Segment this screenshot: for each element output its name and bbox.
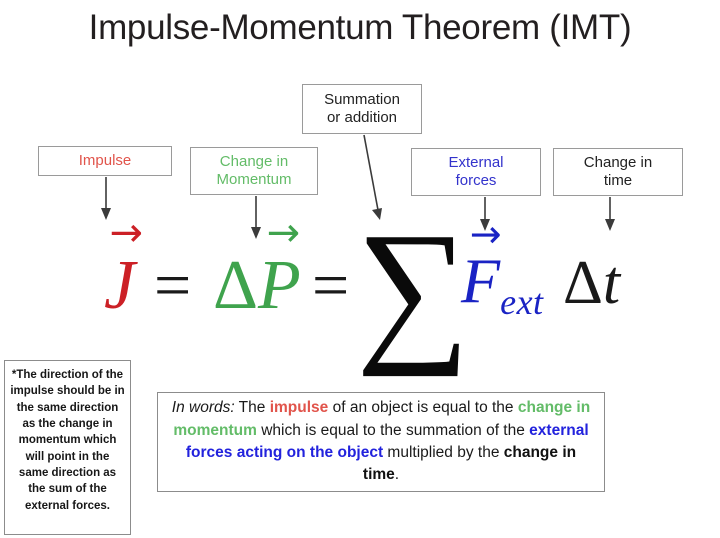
in-words-part2: of an object is equal to the — [328, 399, 518, 416]
equation-delta-symbol-time: Δ — [563, 249, 603, 317]
vector-arrow-icon: → — [470, 212, 502, 256]
equation-P-symbol: P — [258, 247, 301, 324]
in-words-box: In words: The impulse of an object is eq… — [157, 392, 605, 492]
equation-term-change-in-momentum-vector: Δ→P — [213, 246, 301, 326]
vector-arrow-icon: → — [267, 210, 301, 256]
equation: → J = Δ→P = ∑ →Fext Δt — [0, 222, 720, 347]
in-words-part4: multiplied by the — [383, 444, 504, 461]
equation-term-impulse-vector: → J — [104, 246, 135, 326]
equation-term-external-force-vector: →Fext — [461, 244, 544, 323]
in-words-part5: . — [395, 466, 399, 483]
in-words-part1: The — [235, 399, 270, 416]
equation-equals-1: = — [154, 248, 191, 324]
vector-arrow-icon: → — [109, 210, 143, 256]
equation-J-symbol: J — [104, 247, 135, 324]
equation-term-change-in-time: Δt — [563, 248, 620, 319]
footnote-box: *The direction of the impulse should be … — [4, 360, 131, 535]
in-words-text: In words: The impulse of an object is eq… — [168, 397, 594, 487]
equation-equals-2: = — [312, 248, 349, 324]
in-words-part3: which is equal to the summation of the — [257, 422, 529, 439]
in-words-lead: In words: — [172, 399, 235, 416]
equation-summation-sigma-symbol: ∑ — [356, 208, 470, 368]
equation-F-subscript: ext — [500, 282, 543, 322]
equation-delta-symbol: Δ — [213, 247, 258, 324]
in-words-impulse: impulse — [270, 399, 329, 416]
equation-t-symbol: t — [603, 249, 620, 317]
